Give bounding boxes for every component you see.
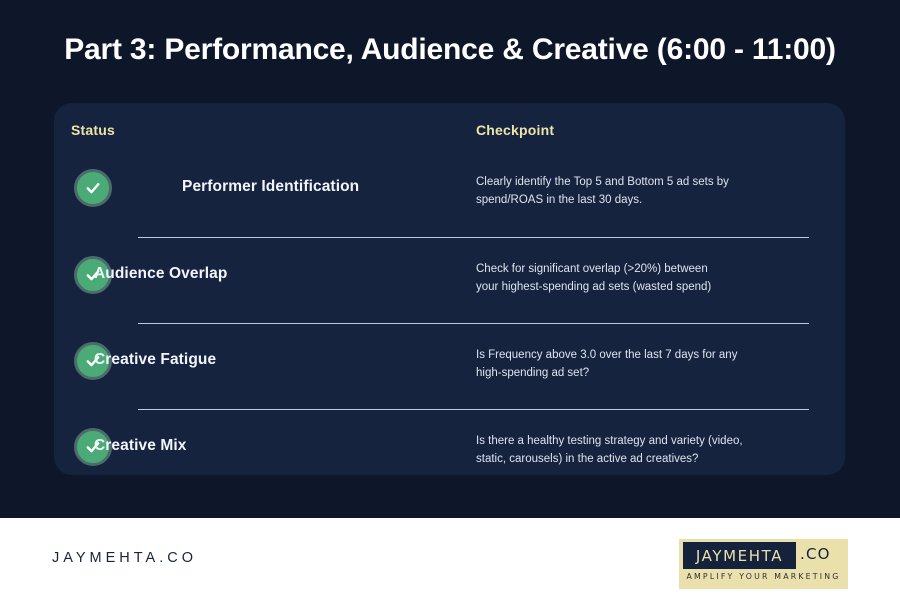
row-description-line1: Is there a healthy testing strategy and … (476, 435, 743, 447)
row-description-line1: Is Frequency above 3.0 over the last 7 d… (476, 349, 737, 361)
checklist-card: Status Checkpoint Performer Identificati… (54, 103, 845, 475)
footer-brand-text: JAYMEHTA.CO (52, 550, 197, 566)
check-circle-icon (74, 169, 112, 207)
row-description-line1: Check for significant overlap (>20%) bet… (476, 263, 708, 275)
row-description-line2: high-spending ad set? (476, 364, 806, 382)
checklist-rows: Performer Identification Clearly identif… (54, 151, 845, 495)
logo-word: JAYMEHTA (696, 547, 783, 565)
row-description: Is Frequency above 3.0 over the last 7 d… (476, 346, 806, 383)
row-description-line2: static, carousels) in the active ad crea… (476, 450, 806, 468)
table-header: Status Checkpoint (54, 103, 845, 151)
logo-dark-box: JAYMEHTA (683, 542, 796, 569)
jaymehta-logo: JAYMEHTA .CO AMPLIFY YOUR MARKETING (679, 539, 848, 589)
table-row[interactable]: Audience Overlap Check for significant o… (138, 237, 809, 323)
row-title: Audience Overlap (94, 265, 227, 283)
row-title: Performer Identification (182, 178, 359, 196)
logo-wordmark: JAYMEHTA .CO (679, 539, 848, 572)
column-header-status: Status (71, 122, 115, 138)
table-row[interactable]: Creative Fatigue Is Frequency above 3.0 … (138, 323, 809, 409)
row-description-line1: Clearly identify the Top 5 and Bottom 5 … (476, 176, 729, 188)
row-description: Check for significant overlap (>20%) bet… (476, 260, 806, 297)
table-row[interactable]: Performer Identification Clearly identif… (54, 151, 845, 237)
logo-tagline: AMPLIFY YOUR MARKETING (679, 572, 848, 581)
page-title: Part 3: Performance, Audience & Creative… (0, 32, 900, 68)
row-description-line2: your highest-spending ad sets (wasted sp… (476, 278, 806, 296)
row-title: Creative Mix (94, 437, 187, 455)
row-description: Is there a healthy testing strategy and … (476, 432, 806, 469)
table-row[interactable]: Creative Mix Is there a healthy testing … (138, 409, 809, 495)
column-header-checkpoint: Checkpoint (476, 122, 554, 138)
logo-suffix: .CO (800, 545, 831, 563)
row-description: Clearly identify the Top 5 and Bottom 5 … (476, 173, 806, 210)
row-description-line2: spend/ROAS in the last 30 days. (476, 191, 806, 209)
row-title: Creative Fatigue (94, 351, 216, 369)
